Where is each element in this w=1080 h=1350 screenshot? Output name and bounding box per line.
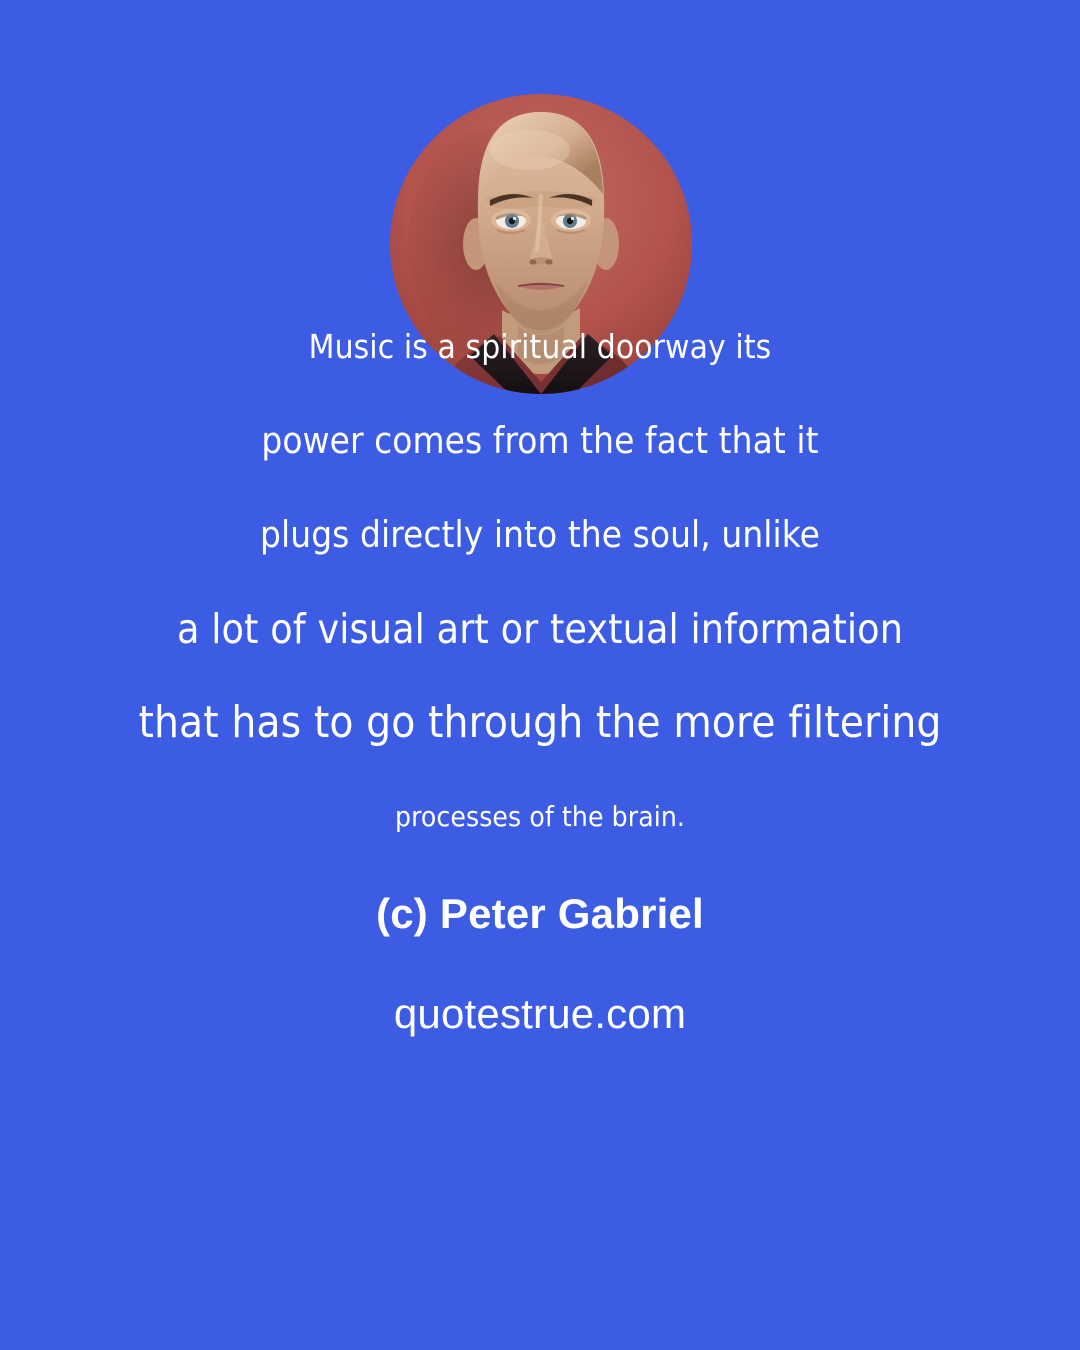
quote-line: a lot of visual art or textual informati… [0, 582, 1080, 676]
quote-attribution: (c) Peter Gabriel [0, 890, 1080, 938]
quote-text: Music is a spiritual doorway its power c… [0, 0, 1080, 864]
site-watermark: quotestrue.com [0, 990, 1080, 1038]
quote-line: plugs directly into the soul, unlike [0, 488, 1080, 582]
quote-line: processes of the brain. [0, 770, 1080, 864]
quote-line: power comes from the fact that it [0, 394, 1080, 488]
quote-line: that has to go through the more filterin… [0, 676, 1080, 770]
quote-line: Music is a spiritual doorway its [0, 300, 1080, 394]
quote-card: Music is a spiritual doorway its power c… [0, 0, 1080, 1350]
